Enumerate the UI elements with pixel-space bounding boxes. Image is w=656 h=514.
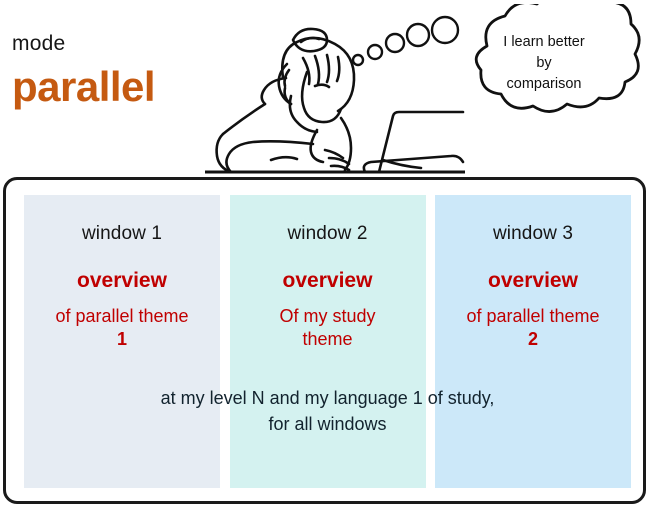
- cloud-text-line3: comparison: [478, 74, 610, 95]
- cloud-text-line2: by: [478, 53, 610, 74]
- window-subtitle: Of my studytheme: [230, 305, 426, 351]
- windows-container: window 1 overview of parallel theme 1 wi…: [3, 177, 646, 504]
- window-panel-3[interactable]: window 3 overview of parallel theme 2: [435, 195, 631, 488]
- header-area: mode parallel: [0, 0, 656, 175]
- window-number: 2: [435, 328, 631, 351]
- window-title: window 1: [24, 223, 220, 245]
- cloud-text: I learn better by comparison: [478, 32, 610, 95]
- window-overview-label: overview: [435, 269, 631, 293]
- window-overview-label: overview: [24, 269, 220, 293]
- window-panel-2[interactable]: window 2 overview Of my studytheme: [230, 195, 426, 488]
- window-panel-1[interactable]: window 1 overview of parallel theme 1: [24, 195, 220, 488]
- panels-row: window 1 overview of parallel theme 1 wi…: [24, 195, 631, 488]
- cloud-text-line1: I learn better: [478, 32, 610, 53]
- window-title: window 2: [230, 223, 426, 245]
- window-subtitle: of parallel theme: [24, 305, 220, 328]
- window-overview-label: overview: [230, 269, 426, 293]
- window-title: window 3: [435, 223, 631, 245]
- mode-label: mode: [12, 32, 65, 56]
- window-subtitle: of parallel theme: [435, 305, 631, 328]
- mode-name: parallel: [12, 66, 155, 108]
- window-number: 1: [24, 328, 220, 351]
